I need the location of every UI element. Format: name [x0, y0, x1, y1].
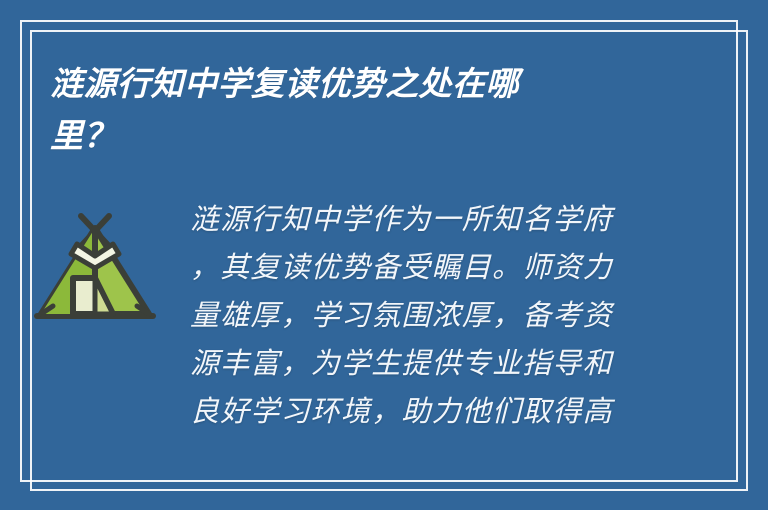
illustration-container [0, 196, 190, 330]
title-line-2: 里？ [50, 110, 650, 162]
body-line-4: 源丰富，为学生提供专业指导和 [190, 340, 698, 388]
body-line-5: 良好学习环境，助力他们取得高 [190, 388, 698, 436]
article-cover-card: 涟源行知中学复读优势之处在哪 里？ [0, 0, 768, 510]
title-line-1: 涟源行知中学复读优势之处在哪 [50, 58, 650, 110]
body-line-3: 量雄厚，学习氛围浓厚，备考资 [190, 292, 698, 340]
page-title: 涟源行知中学复读优势之处在哪 里？ [50, 58, 650, 162]
content-row: 涟源行知中学作为一所知名学府 ，其复读优势备受瞩目。师资力 量雄厚，学习氛围浓厚… [0, 196, 768, 436]
body-line-2: ，其复读优势备受瞩目。师资力 [190, 244, 698, 292]
body-line-1: 涟源行知中学作为一所知名学府 [190, 196, 698, 244]
article-body-text: 涟源行知中学作为一所知名学府 ，其复读优势备受瞩目。师资力 量雄厚，学习氛围浓厚… [190, 196, 768, 436]
teepee-tent-icon [33, 210, 157, 330]
